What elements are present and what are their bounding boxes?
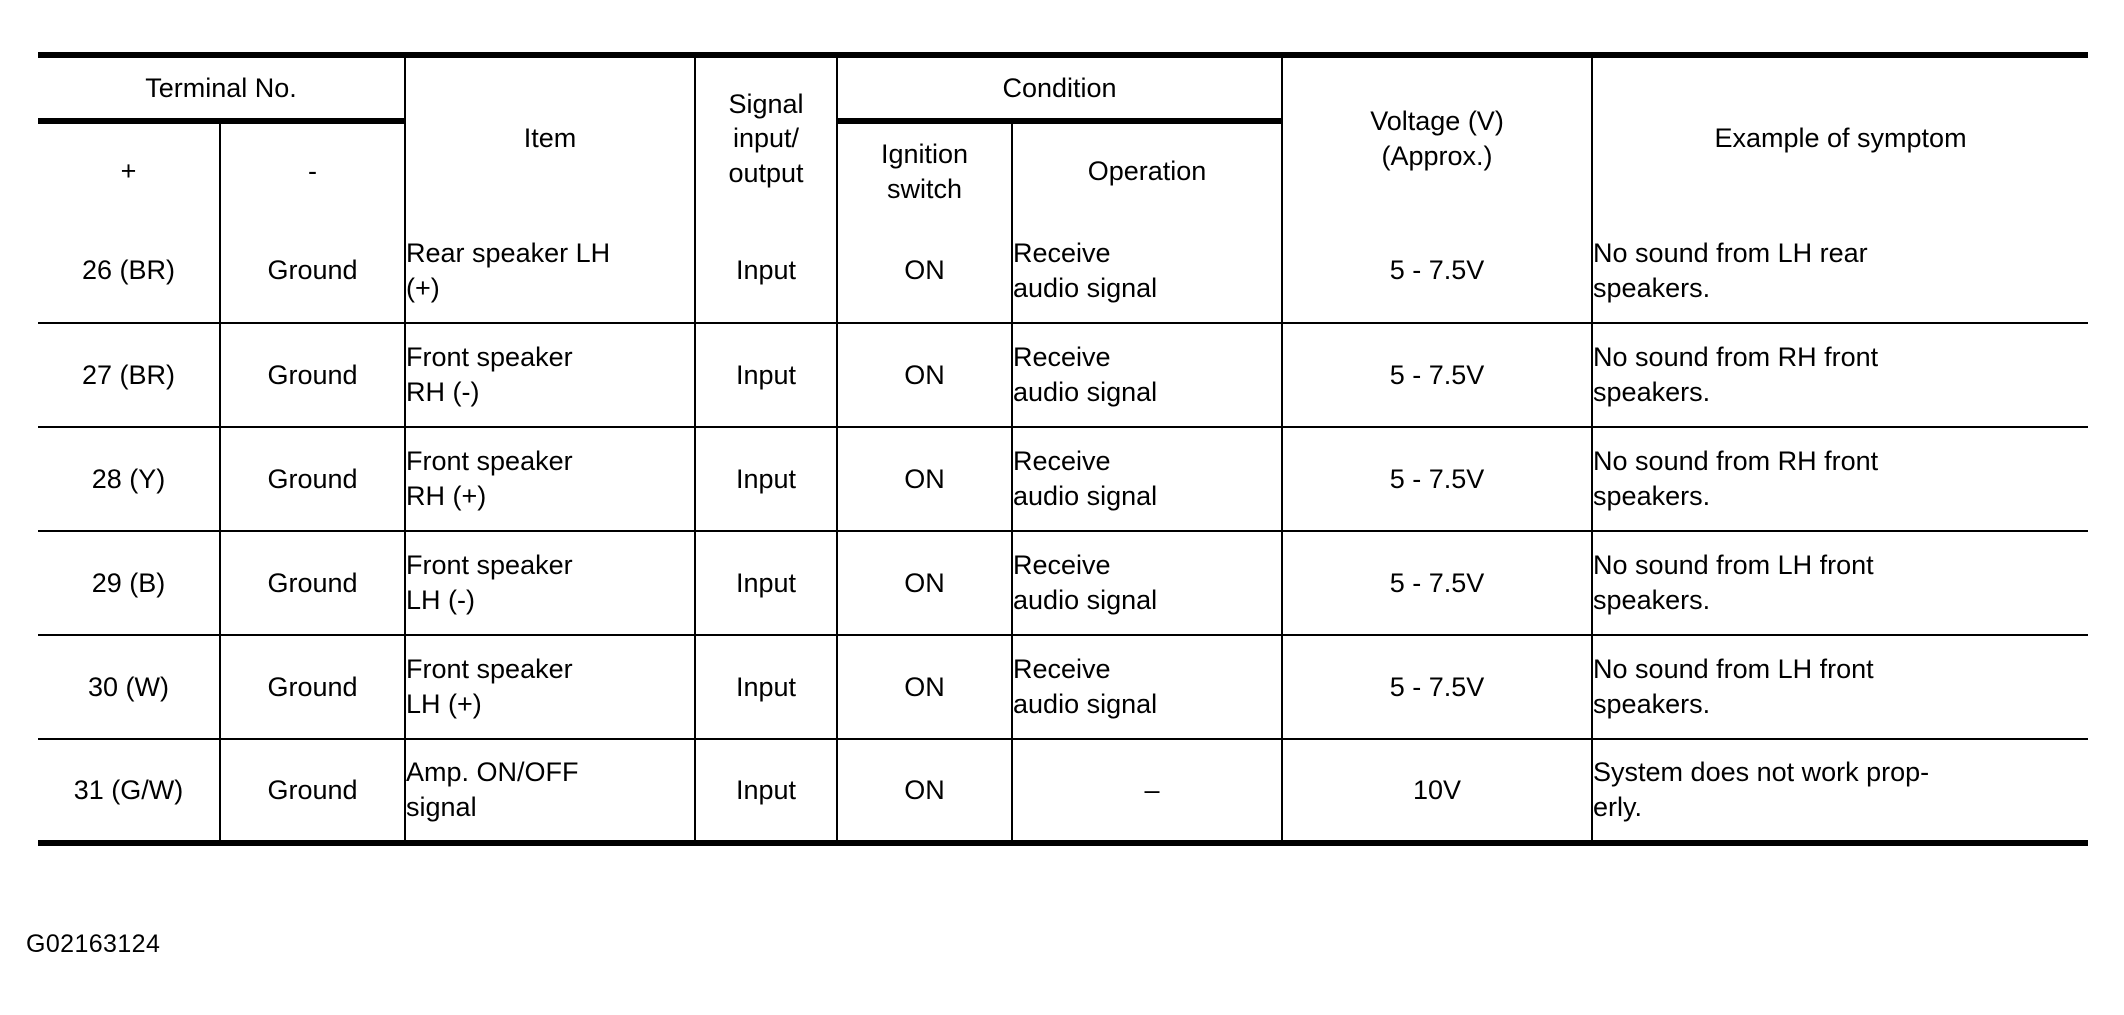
terminal-plus-value: 29 (B) <box>92 568 166 598</box>
signal-io-value: Input <box>736 255 796 285</box>
terminal-minus-value: Ground <box>267 255 357 285</box>
terminal-plus-value: 28 (Y) <box>92 464 166 494</box>
header-condition: Condition <box>837 55 1282 121</box>
terminal-minus-value: Ground <box>267 464 357 494</box>
cell-operation: Receiveaudio signal <box>1012 219 1282 323</box>
table-row[interactable]: 30 (W)GroundFront speakerLH (+)InputONRe… <box>38 635 2088 739</box>
cell-terminal-minus: Ground <box>220 635 405 739</box>
ignition-switch-value: ON <box>904 568 945 598</box>
header-row-top: Terminal No. Item Signal input/ output C… <box>38 55 2088 121</box>
terminal-minus-value: Ground <box>267 568 357 598</box>
text-line-1: System does not work prop- <box>1593 757 1929 787</box>
text-line-2: audio signal <box>1013 273 1157 303</box>
cell-symptom: No sound from RH frontspeakers. <box>1592 427 2088 531</box>
cell-item: Front speakerRH (+) <box>405 427 695 531</box>
text-line-2: LH (+) <box>406 689 482 719</box>
text-line-1: Amp. ON/OFF <box>406 757 579 787</box>
cell-terminal-plus: 30 (W) <box>38 635 220 739</box>
text-line-1: – <box>1145 775 1160 805</box>
cell-operation: Receiveaudio signal <box>1012 323 1282 427</box>
ignition-switch-value: ON <box>904 360 945 390</box>
cell-voltage: 5 - 7.5V <box>1282 219 1592 323</box>
cell-item: Front speakerRH (-) <box>405 323 695 427</box>
cell-symptom: No sound from RH frontspeakers. <box>1592 323 2088 427</box>
cell-item: Front speakerLH (-) <box>405 531 695 635</box>
cell-operation: Receiveaudio signal <box>1012 635 1282 739</box>
text-line-1: Receive <box>1013 446 1111 476</box>
voltage-value: 5 - 7.5V <box>1390 255 1485 285</box>
text-line-1: Receive <box>1013 654 1111 684</box>
signal-io-value: Input <box>736 775 796 805</box>
cell-signal-io: Input <box>695 323 837 427</box>
cell-item: Rear speaker LH(+) <box>405 219 695 323</box>
terminal-plus-value: 31 (G/W) <box>74 775 184 805</box>
cell-ignition-switch: ON <box>837 427 1012 531</box>
cell-voltage: 10V <box>1282 739 1592 843</box>
terminal-plus-value: 26 (BR) <box>82 255 175 285</box>
cell-terminal-plus: 28 (Y) <box>38 427 220 531</box>
figure-id-caption: G02163124 <box>26 930 160 959</box>
header-item: Item <box>405 55 695 219</box>
terminal-minus-value: Ground <box>267 672 357 702</box>
text-line-2: audio signal <box>1013 377 1157 407</box>
text-line-2: audio signal <box>1013 585 1157 615</box>
ignition-switch-value: ON <box>904 775 945 805</box>
text-line-2: erly. <box>1593 792 1642 822</box>
cell-symptom: No sound from LH frontspeakers. <box>1592 635 2088 739</box>
terminal-minus-value: Ground <box>267 775 357 805</box>
text-line-1: Front speaker <box>406 550 573 580</box>
text-line-2: speakers. <box>1593 585 1710 615</box>
signal-io-value: Input <box>736 568 796 598</box>
ignition-switch-value: ON <box>904 672 945 702</box>
cell-signal-io: Input <box>695 635 837 739</box>
text-line-2: LH (-) <box>406 585 475 615</box>
cell-signal-io: Input <box>695 219 837 323</box>
voltage-value: 5 - 7.5V <box>1390 360 1485 390</box>
cell-operation: – <box>1012 739 1282 843</box>
table-row[interactable]: 29 (B)GroundFront speakerLH (-)InputONRe… <box>38 531 2088 635</box>
header-plus: + <box>38 121 220 219</box>
voltage-value: 5 - 7.5V <box>1390 464 1485 494</box>
cell-item: Front speakerLH (+) <box>405 635 695 739</box>
cell-ignition-switch: ON <box>837 323 1012 427</box>
terminal-plus-value: 30 (W) <box>88 672 169 702</box>
text-line-1: No sound from RH front <box>1593 342 1878 372</box>
cell-symptom: System does not work prop-erly. <box>1592 739 2088 843</box>
text-line-2: (+) <box>406 273 440 303</box>
cell-voltage: 5 - 7.5V <box>1282 635 1592 739</box>
cell-symptom: No sound from LH frontspeakers. <box>1592 531 2088 635</box>
text-line-1: Receive <box>1013 550 1111 580</box>
header-terminal-no: Terminal No. <box>38 55 405 121</box>
cell-voltage: 5 - 7.5V <box>1282 323 1592 427</box>
header-ignition-switch-line-2: switch <box>887 174 962 204</box>
signal-io-value: Input <box>736 360 796 390</box>
cell-terminal-plus: 27 (BR) <box>38 323 220 427</box>
text-line-2: RH (-) <box>406 377 479 407</box>
cell-operation: Receiveaudio signal <box>1012 427 1282 531</box>
header-voltage-line-2: (Approx.) <box>1382 141 1493 171</box>
text-line-2: speakers. <box>1593 377 1710 407</box>
text-line-1: Front speaker <box>406 654 573 684</box>
header-operation: Operation <box>1012 121 1282 219</box>
terminal-minus-value: Ground <box>267 360 357 390</box>
terminal-spec-table: Terminal No. Item Signal input/ output C… <box>38 52 2088 846</box>
header-voltage-line-1: Voltage (V) <box>1370 106 1504 136</box>
ignition-switch-value: ON <box>904 464 945 494</box>
header-minus: - <box>220 121 405 219</box>
table-body: 26 (BR)GroundRear speaker LH(+)InputONRe… <box>38 219 2088 843</box>
table-row[interactable]: 28 (Y)GroundFront speakerRH (+)InputONRe… <box>38 427 2088 531</box>
text-line-1: Front speaker <box>406 342 573 372</box>
header-example-of-symptom: Example of symptom <box>1592 55 2088 219</box>
cell-terminal-minus: Ground <box>220 427 405 531</box>
voltage-value: 5 - 7.5V <box>1390 672 1485 702</box>
cell-terminal-plus: 29 (B) <box>38 531 220 635</box>
text-line-1: Receive <box>1013 342 1111 372</box>
table-header: Terminal No. Item Signal input/ output C… <box>38 55 2088 219</box>
table-row[interactable]: 31 (G/W)GroundAmp. ON/OFFsignalInputON–1… <box>38 739 2088 843</box>
text-line-2: signal <box>406 792 477 822</box>
text-line-1: No sound from LH rear <box>1593 238 1868 268</box>
header-signal-io: Signal input/ output <box>695 55 837 219</box>
voltage-value: 10V <box>1413 775 1461 805</box>
cell-item: Amp. ON/OFFsignal <box>405 739 695 843</box>
text-line-2: speakers. <box>1593 689 1710 719</box>
text-line-2: RH (+) <box>406 481 486 511</box>
text-line-2: audio signal <box>1013 481 1157 511</box>
text-line-2: audio signal <box>1013 689 1157 719</box>
cell-terminal-minus: Ground <box>220 531 405 635</box>
cell-symptom: No sound from LH rearspeakers. <box>1592 219 2088 323</box>
cell-signal-io: Input <box>695 427 837 531</box>
text-line-1: Rear speaker LH <box>406 238 610 268</box>
header-voltage: Voltage (V) (Approx.) <box>1282 55 1592 219</box>
cell-terminal-plus: 31 (G/W) <box>38 739 220 843</box>
cell-terminal-plus: 26 (BR) <box>38 219 220 323</box>
cell-operation: Receiveaudio signal <box>1012 531 1282 635</box>
text-line-2: speakers. <box>1593 481 1710 511</box>
cell-ignition-switch: ON <box>837 219 1012 323</box>
page-root: Terminal No. Item Signal input/ output C… <box>0 0 2124 1015</box>
cell-ignition-switch: ON <box>837 635 1012 739</box>
header-ignition-switch: Ignition switch <box>837 121 1012 219</box>
signal-io-value: Input <box>736 672 796 702</box>
header-signal-io-line-3: output <box>728 158 803 188</box>
terminal-spec-table-wrapper: Terminal No. Item Signal input/ output C… <box>38 52 2088 846</box>
text-line-1: No sound from LH front <box>1593 550 1874 580</box>
cell-voltage: 5 - 7.5V <box>1282 531 1592 635</box>
terminal-plus-value: 27 (BR) <box>82 360 175 390</box>
cell-ignition-switch: ON <box>837 531 1012 635</box>
text-line-2: speakers. <box>1593 273 1710 303</box>
text-line-1: No sound from RH front <box>1593 446 1878 476</box>
cell-voltage: 5 - 7.5V <box>1282 427 1592 531</box>
cell-terminal-minus: Ground <box>220 219 405 323</box>
header-signal-io-line-1: Signal <box>728 89 803 119</box>
text-line-1: Receive <box>1013 238 1111 268</box>
cell-signal-io: Input <box>695 531 837 635</box>
cell-ignition-switch: ON <box>837 739 1012 843</box>
table-row[interactable]: 26 (BR)GroundRear speaker LH(+)InputONRe… <box>38 219 2088 323</box>
text-line-1: No sound from LH front <box>1593 654 1874 684</box>
table-row[interactable]: 27 (BR)GroundFront speakerRH (-)InputONR… <box>38 323 2088 427</box>
header-ignition-switch-line-1: Ignition <box>881 139 968 169</box>
cell-terminal-minus: Ground <box>220 739 405 843</box>
ignition-switch-value: ON <box>904 255 945 285</box>
header-signal-io-line-2: input/ <box>733 123 799 153</box>
cell-terminal-minus: Ground <box>220 323 405 427</box>
cell-signal-io: Input <box>695 739 837 843</box>
signal-io-value: Input <box>736 464 796 494</box>
text-line-1: Front speaker <box>406 446 573 476</box>
voltage-value: 5 - 7.5V <box>1390 568 1485 598</box>
